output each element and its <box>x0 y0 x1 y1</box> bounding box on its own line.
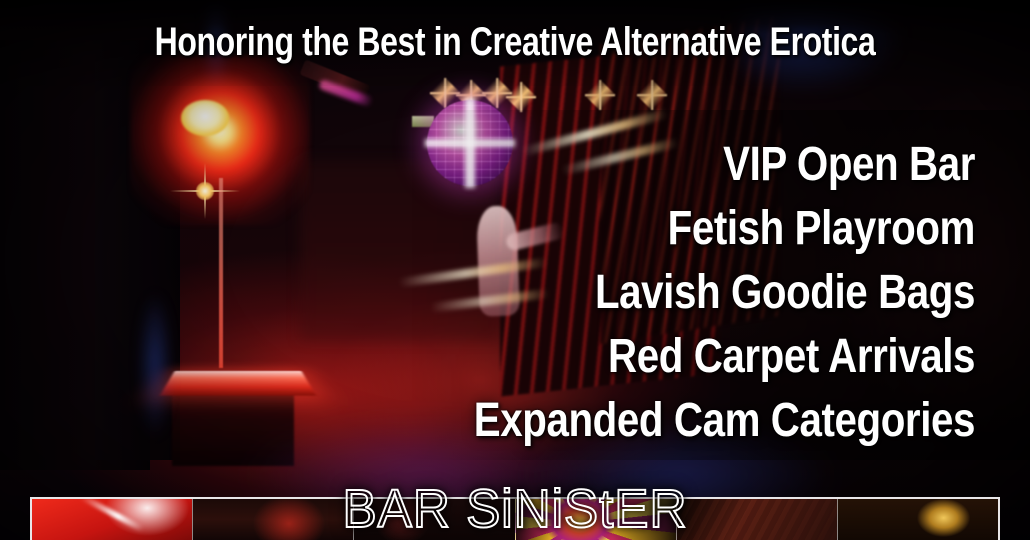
venue-logo-sinister: SiNiStER <box>466 479 687 539</box>
feature-item-expanded-cam-categories: Expanded Cam Categories <box>156 389 975 453</box>
feature-item-lavish-goodie-bags: Lavish Goodie Bags <box>156 261 975 325</box>
venue-logo-bar: BAR <box>343 479 451 539</box>
feature-item-fetish-playroom: Fetish Playroom <box>156 197 975 261</box>
feature-item-red-carpet-arrivals: Red Carpet Arrivals <box>156 325 975 389</box>
feature-list: VIP Open Bar Fetish Playroom Lavish Good… <box>0 133 975 453</box>
event-poster: Honoring the Best in Creative Alternativ… <box>0 0 1030 540</box>
venue-logo: BAR SiNiStER <box>26 481 1005 537</box>
page-title: Honoring the Best in Creative Alternativ… <box>103 22 927 62</box>
feature-item-vip-open-bar: VIP Open Bar <box>156 133 975 197</box>
